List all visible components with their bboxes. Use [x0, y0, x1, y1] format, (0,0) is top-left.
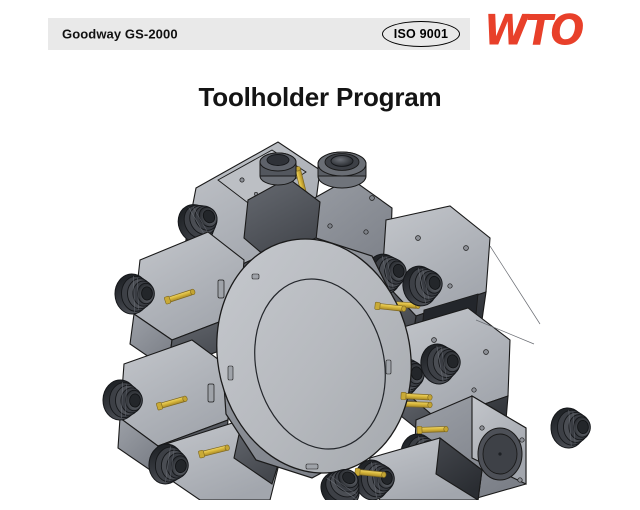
toolholder-collet-far-right — [550, 406, 592, 449]
page-title: Toolholder Program — [0, 82, 640, 113]
leader-line — [490, 246, 540, 324]
header-bar: Goodway GS-2000 ISO 9001 — [48, 18, 470, 50]
machine-model-label: Goodway GS-2000 — [62, 27, 178, 42]
iso-certification-badge: ISO 9001 — [382, 21, 460, 47]
iso-badge-label: ISO 9001 — [394, 28, 448, 41]
wto-brand-logo: WTO — [484, 9, 612, 53]
turret-assembly-figure — [20, 128, 620, 500]
turret-assembly-illustration — [20, 128, 620, 500]
brand-logo-text: WTO — [484, 10, 582, 52]
